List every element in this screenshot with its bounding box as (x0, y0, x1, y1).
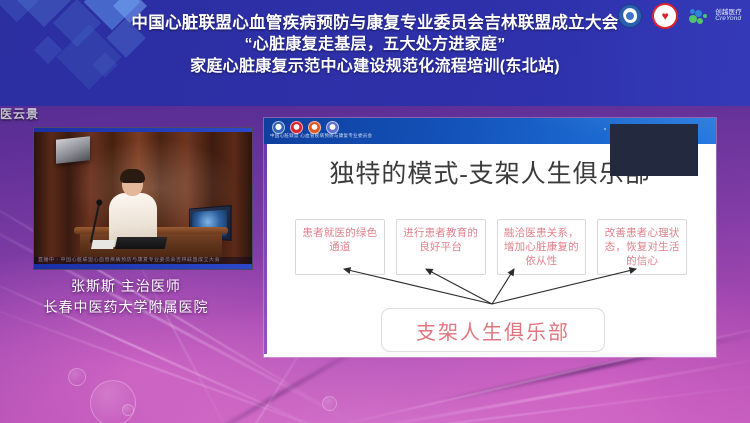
creyond-logo: 创越医疗 CreYond (688, 6, 742, 26)
video-ticker: 直播中 · 中国心脏联盟心血管疾病预防与康复专业委员会吉林联盟成立大会 (34, 257, 252, 264)
speaker-organization: 长春中医药大学附属医院 (0, 297, 252, 318)
benefit-box: 进行患者教育的良好平台 (396, 219, 486, 275)
club-highlight-box: 支架人生俱乐部 (381, 308, 605, 352)
cma-logo-icon (618, 4, 642, 28)
presentation-slide[interactable]: 中国心脏联盟 心血管疾病预防与康复专业委员会 独特的模式-支架人生俱乐部 患者就… (264, 118, 716, 357)
wall-monitor (56, 136, 90, 164)
event-banner: 中国心脏联盟心血管疾病预防与康复专业委员会吉林联盟成立大会 “心脏康复走基层，五… (0, 0, 750, 106)
benefit-box-row: 患者就医的绿色通道 进行患者教育的良好平台 融洽医患关系，增加心脏康复的依从性 … (295, 219, 687, 275)
livestream-screen: 中国心脏联盟心血管疾病预防与康复专业委员会吉林联盟成立大会 “心脏康复走基层，五… (0, 0, 750, 423)
background-bubble (322, 396, 337, 411)
glasses-icon (123, 181, 142, 186)
slide-left-edge (264, 144, 267, 357)
club-label: 支架人生俱乐部 (416, 316, 570, 345)
speaker-name: 张斯斯 主治医师 (0, 276, 252, 297)
video-bottom-bar (34, 264, 252, 269)
benefit-box: 改善患者心理状态，恢复对生活的信心 (597, 219, 687, 275)
sponsor-logo-row: ♥ 创越医疗 CreYond (618, 3, 742, 29)
speaker-caption: 张斯斯 主治医师 长春中医药大学附属医院 (0, 276, 252, 318)
benefit-box: 融洽医患关系，增加心脏康复的依从性 (497, 219, 587, 275)
heart-alliance-logo-icon: ♥ (652, 3, 678, 29)
slide-bottom-edge (264, 354, 716, 357)
video-top-bar (34, 128, 252, 132)
slide-header-caption: 中国心脏联盟 心血管疾病预防与康复专业委员会 (270, 133, 372, 139)
banner-title-line-3: 家庭心脏康复示范中心建设规范化流程培训(东北站) (0, 56, 750, 78)
background-bubble (68, 368, 86, 386)
speaker-video-panel[interactable]: 直播中 · 中国心脏联盟心血管疾病预防与康复专业委员会吉林联盟成立大会 (33, 127, 253, 270)
benefit-box: 患者就医的绿色通道 (295, 219, 385, 275)
slide-overlay-block (610, 124, 698, 176)
creyond-name-en: CreYond (715, 16, 742, 23)
paper-stack (91, 240, 115, 249)
heart-glyph: ♥ (662, 10, 669, 22)
background-bubble (122, 404, 134, 416)
video-ticker-text: 直播中 · 中国心脏联盟心血管疾病预防与康复专业委员会吉林联盟成立大会 (34, 257, 252, 264)
creyond-mark-icon (688, 6, 712, 26)
banner-title-line-2: “心脏康复走基层，五大处方进家庭” (0, 34, 750, 56)
video-watermark: 医云景 (0, 105, 39, 122)
keyboard (115, 237, 168, 249)
speaker-figure (106, 171, 160, 245)
background-bubble (90, 380, 136, 423)
